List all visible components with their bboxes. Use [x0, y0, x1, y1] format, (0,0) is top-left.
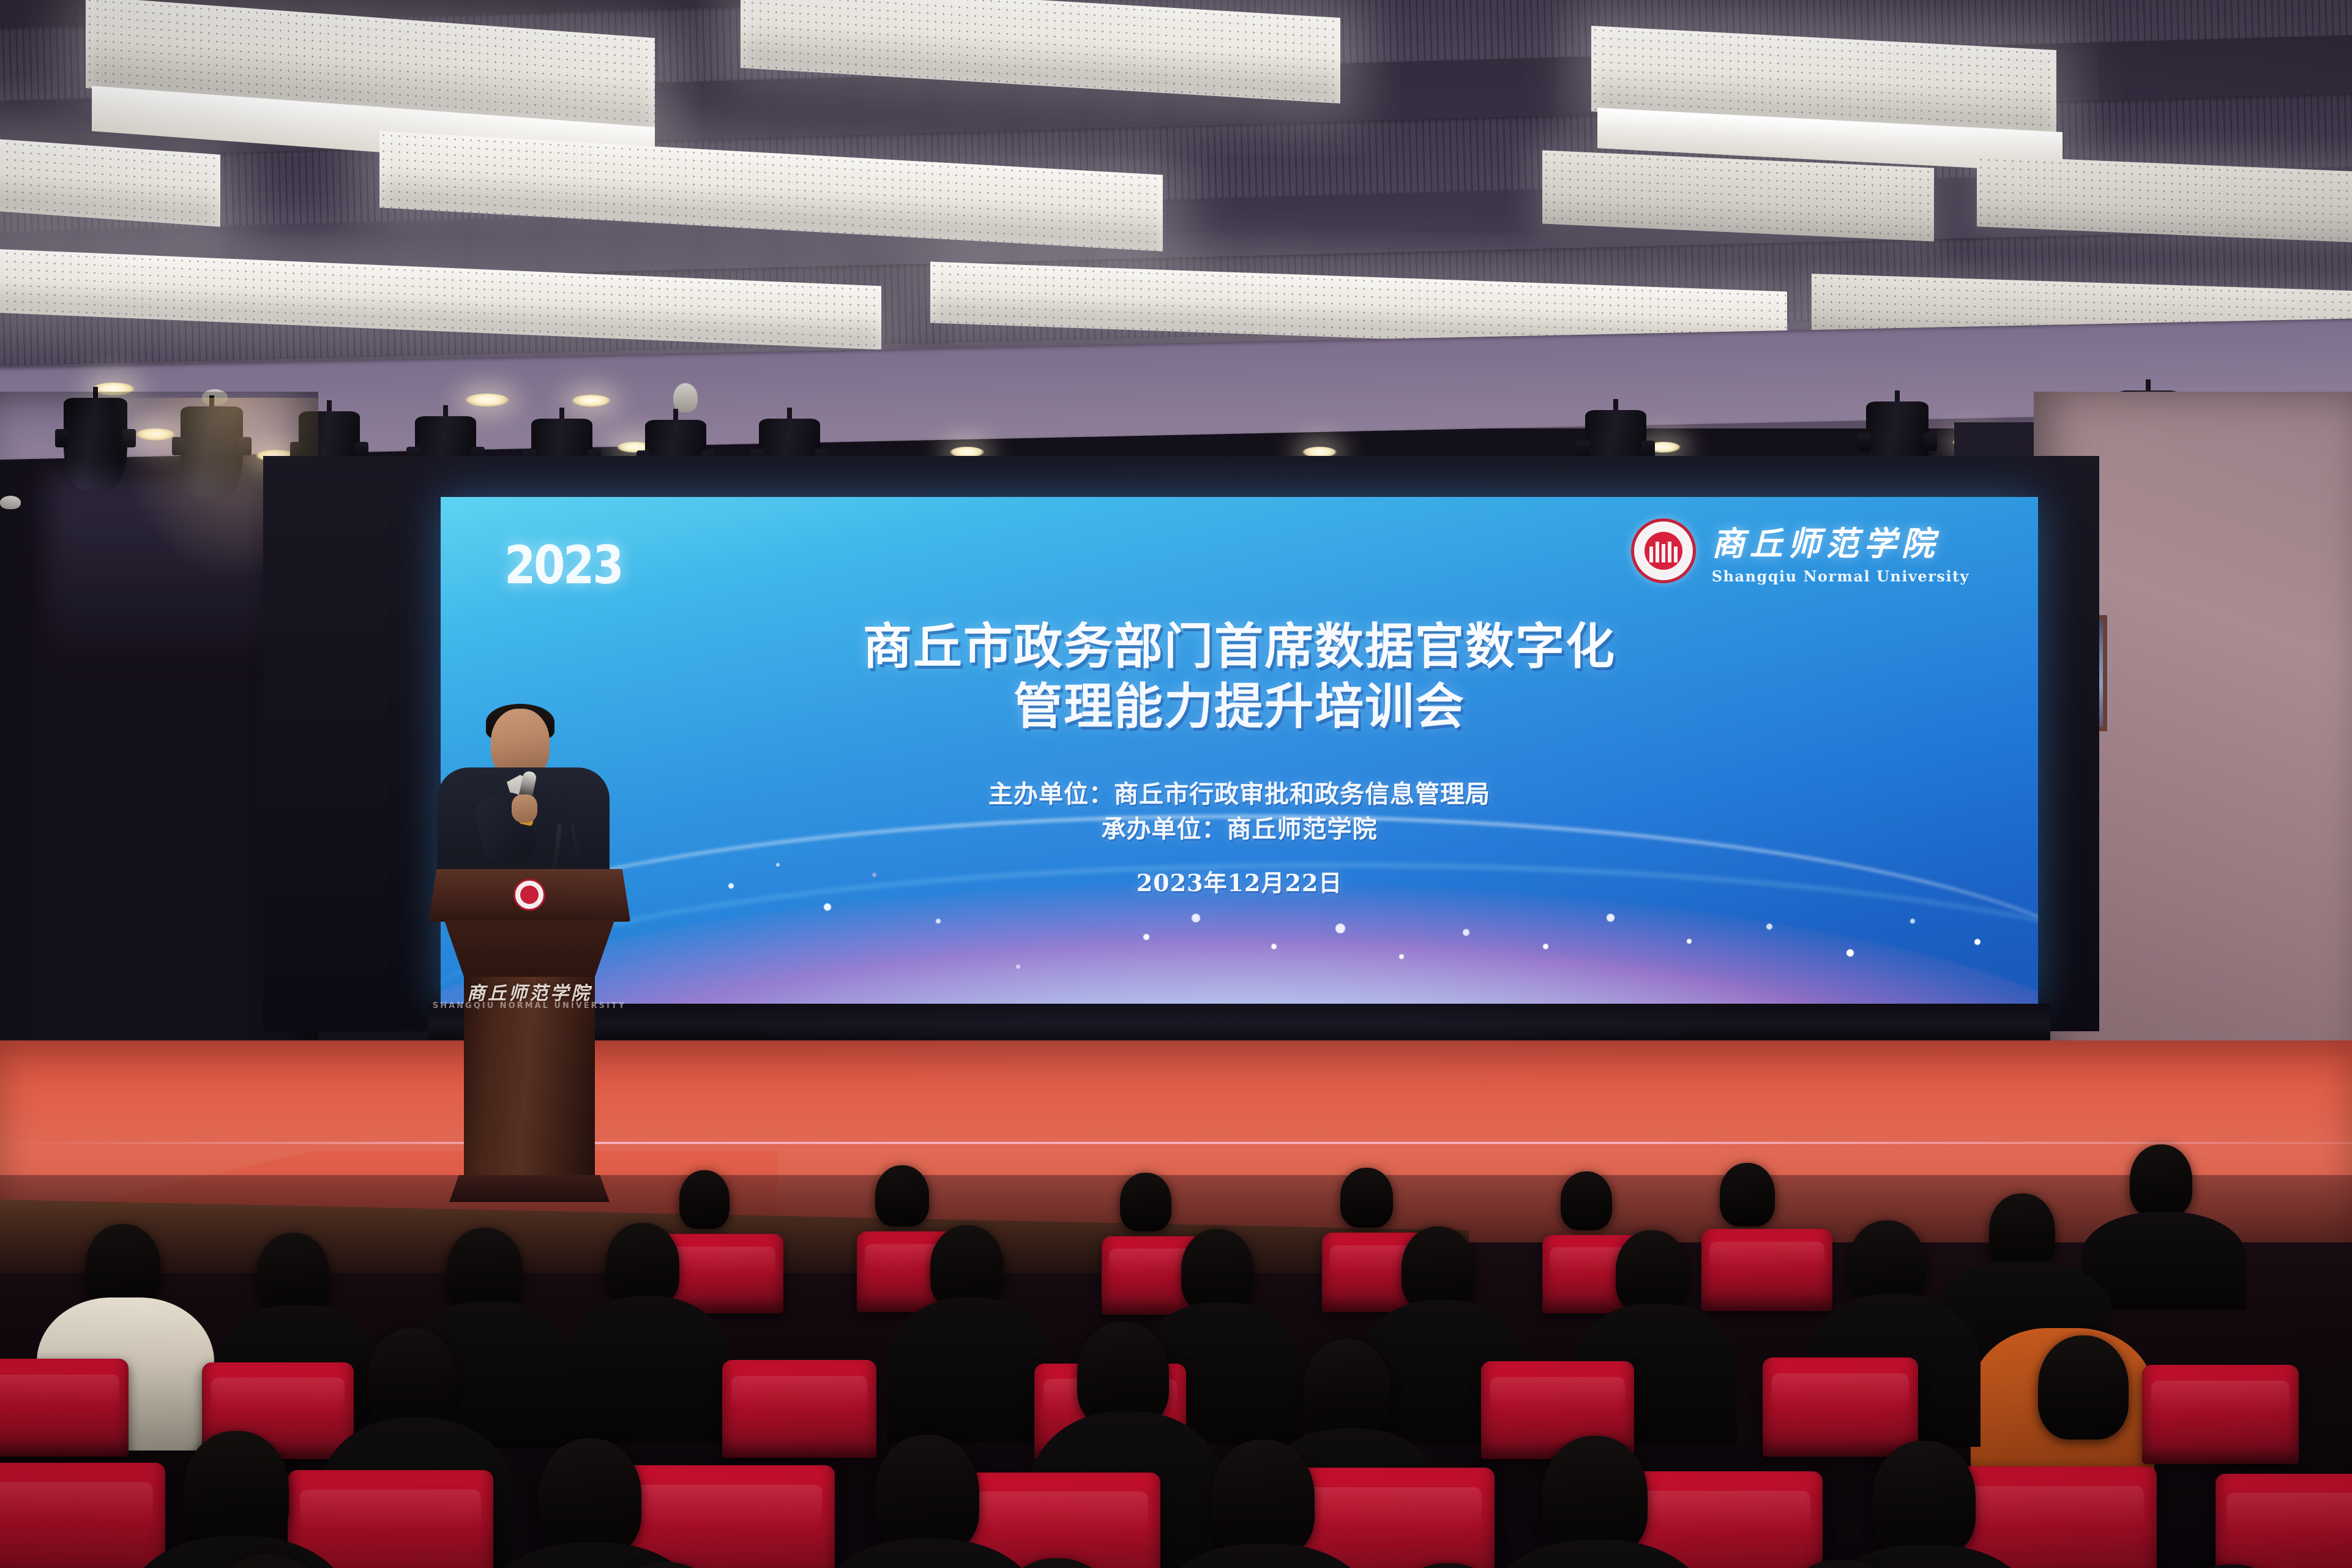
audience-seat — [288, 1470, 493, 1568]
audience-head — [1616, 1230, 1688, 1313]
audience-seat — [1763, 1357, 1918, 1457]
audience-seat — [0, 1463, 165, 1568]
audience-seat — [624, 1465, 835, 1568]
screen-title-line1: 商丘市政务部门首席数据官数字化 — [441, 617, 2038, 677]
seal-pillars-icon — [1649, 542, 1678, 562]
audience-seat — [2216, 1474, 2352, 1568]
audience-head — [1181, 1229, 1253, 1312]
led-screen: 2023 商丘师范学院 Shangqiu Normal University 商… — [441, 497, 2038, 1005]
audience-seat — [2142, 1365, 2299, 1464]
ceiling-light-well — [741, 0, 1340, 103]
audience-shoulders — [887, 1297, 1054, 1443]
light-well-perforation — [0, 136, 220, 226]
podium-name-en: SHANGQIU NORMAL UNIVERSITY — [428, 1001, 630, 1010]
university-seal-icon — [1631, 518, 1696, 583]
audience-head — [875, 1435, 979, 1553]
audience-shoulders — [563, 1296, 732, 1443]
screen-date: 2023年12月22日 — [441, 864, 2038, 898]
auditorium-scene: 2023 商丘师范学院 Shangqiu Normal University 商… — [0, 0, 2352, 1568]
podium-neck — [444, 920, 614, 979]
audience-head — [1340, 1168, 1393, 1228]
university-name-en: Shangqiu Normal University — [1712, 567, 1969, 585]
screen-organizer-coorganizer: 承办单位：商丘师范学院 — [441, 812, 2038, 847]
audience-head — [1720, 1163, 1775, 1226]
light-well-perforation — [1977, 155, 2352, 244]
screen-title-line2: 管理能力提升培训会 — [441, 677, 2038, 737]
audience-head — [1212, 1439, 1315, 1557]
podium-university-seal-icon — [513, 879, 545, 911]
university-logo-lockup: 商丘师范学院 Shangqiu Normal University — [1631, 517, 1969, 585]
audience-head — [2130, 1144, 2192, 1217]
audience-head — [679, 1170, 730, 1229]
audience-head — [1304, 1339, 1391, 1441]
audience-head — [1120, 1173, 1171, 1231]
audience-seat — [722, 1360, 876, 1458]
audience-head — [606, 1223, 679, 1307]
light-arm — [1857, 433, 1871, 451]
university-name-block: 商丘师范学院 Shangqiu Normal University — [1712, 517, 1969, 585]
audience-head — [1873, 1441, 1976, 1557]
audience-head — [875, 1165, 929, 1226]
ceiling — [0, 0, 2352, 428]
downlight-icon — [572, 395, 611, 407]
screen-organizers: 主办单位：商丘市行政审批和政务信息管理局 承办单位：商丘师范学院 — [441, 777, 2038, 847]
audience-head — [2038, 1335, 2129, 1439]
audience-area — [0, 1175, 2352, 1568]
university-name-cn: 商丘师范学院 — [1712, 517, 1969, 565]
audience-head — [367, 1328, 457, 1431]
podium: 商丘师范学院 SHANGQIU NORMAL UNIVERSITY — [428, 869, 630, 1209]
ceiling-light-well — [1977, 155, 2352, 244]
light-arm — [1924, 433, 1937, 451]
audience-head — [86, 1224, 160, 1310]
audience-head — [539, 1438, 641, 1556]
smoke-detector-icon — [673, 383, 698, 413]
speaker-hand — [512, 794, 537, 823]
screen-organizer-host: 主办单位：商丘市行政审批和政务信息管理局 — [441, 777, 2038, 812]
light-well-perforation — [741, 0, 1340, 103]
podium-top — [428, 869, 630, 922]
screen-title: 商丘市政务部门首席数据官数字化 管理能力提升培训会 — [441, 617, 2038, 736]
audience-head — [257, 1233, 329, 1316]
audience-seat — [0, 1359, 129, 1457]
ceiling-light-well — [0, 136, 220, 226]
audience-head — [184, 1431, 289, 1551]
audience-head — [1402, 1226, 1475, 1311]
audience-head — [1989, 1193, 2055, 1269]
audience-head — [1561, 1171, 1612, 1230]
audience-head — [1542, 1436, 1648, 1556]
stage-floor-light-line — [0, 1142, 2352, 1144]
audience-seat — [1701, 1229, 1832, 1311]
screen-year-badge: 2023 — [504, 535, 622, 596]
